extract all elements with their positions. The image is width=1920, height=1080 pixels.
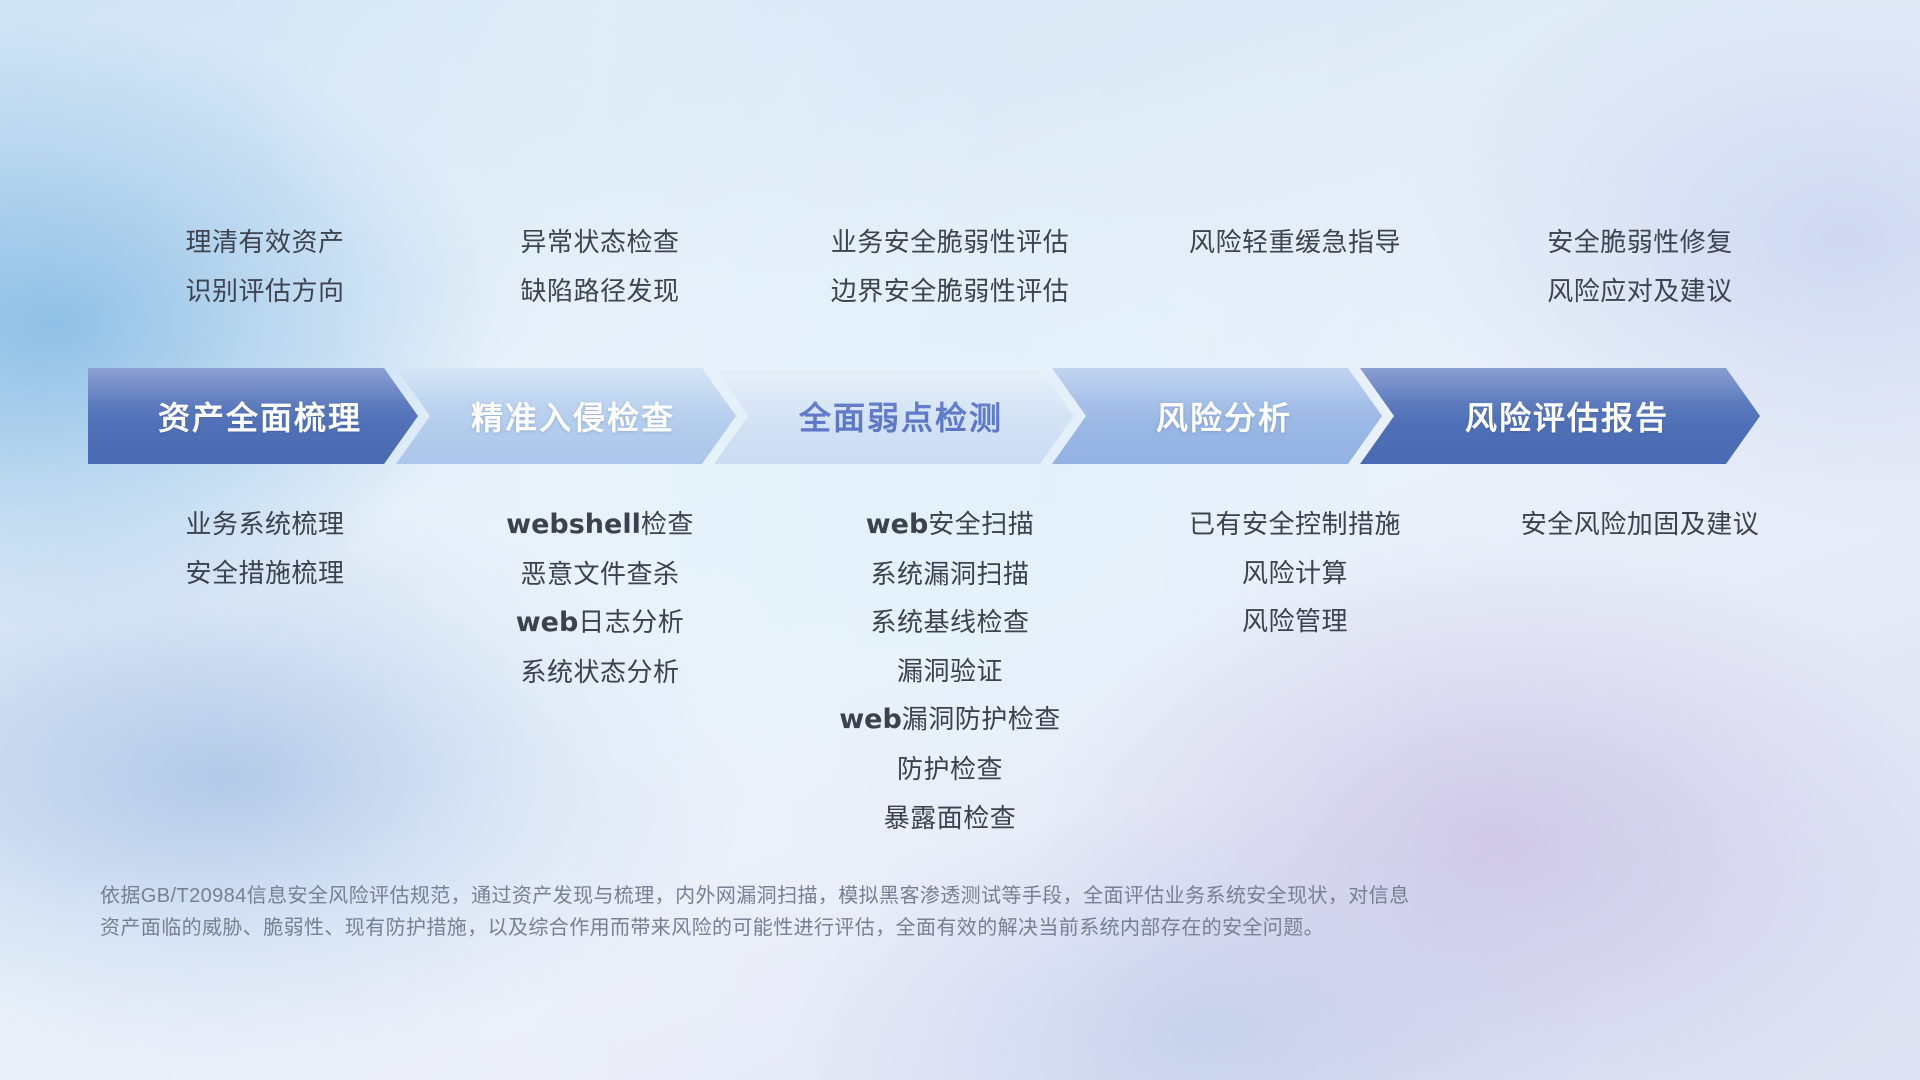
stage-arrow-weakness-detection[interactable]: 全面弱点检测 xyxy=(714,368,1074,464)
footer-description: 依据GB/T20984信息安全风险评估规范，通过资产发现与梳理，内外网漏洞扫描，… xyxy=(100,880,1660,945)
top-caption: 理清有效资产 xyxy=(185,226,344,259)
stage-arrow-label: 风险评估报告 xyxy=(1451,393,1669,439)
stage-arrow-asset-inventory[interactable]: 资产全面梳理 xyxy=(88,368,418,464)
stage-arrow-intrusion-check[interactable]: 精准入侵检查 xyxy=(396,368,736,464)
stage-item: webshell检查 xyxy=(506,508,694,542)
stage-item: 风险计算 xyxy=(1242,557,1348,590)
stage-item-row: 业务系统梳理安全措施梳理webshell检查恶意文件查杀web日志分析系统状态分… xyxy=(0,508,1920,834)
stage-item: 安全风险加固及建议 xyxy=(1521,508,1760,541)
top-caption: 安全脆弱性修复 xyxy=(1547,226,1733,259)
stage-arrow-label: 精准入侵检查 xyxy=(457,393,675,439)
stage-item: web安全扫描 xyxy=(866,508,1035,542)
top-caption: 缺陷路径发现 xyxy=(520,275,679,308)
top-caption: 风险轻重缓急指导 xyxy=(1189,226,1401,259)
stage-item: 安全措施梳理 xyxy=(185,557,344,590)
stage-item: 已有安全控制措施 xyxy=(1189,508,1401,541)
stage-item: 风险管理 xyxy=(1242,605,1348,638)
slide-canvas: 理清有效资产识别评估方向异常状态检查缺陷路径发现业务安全脆弱性评估边界安全脆弱性… xyxy=(0,0,1920,1080)
stage-item-latin: web xyxy=(839,704,902,735)
slide-content: 理清有效资产识别评估方向异常状态检查缺陷路径发现业务安全脆弱性评估边界安全脆弱性… xyxy=(0,0,1920,1080)
top-caption: 识别评估方向 xyxy=(185,275,344,308)
process-arrow-banner: 资产全面梳理精准入侵检查全面弱点检测风险分析风险评估报告 xyxy=(88,368,1848,464)
stage-item: web日志分析 xyxy=(516,606,685,640)
stage-item-latin: web xyxy=(516,607,579,638)
stage-item: 恶意文件查杀 xyxy=(520,558,679,591)
top-caption: 业务安全脆弱性评估 xyxy=(831,226,1070,259)
stage-item: 暴露面检查 xyxy=(884,802,1017,835)
stage-arrow-risk-analysis[interactable]: 风险分析 xyxy=(1052,368,1382,464)
stage-item-latin: web xyxy=(866,509,929,540)
top-caption: 边界安全脆弱性评估 xyxy=(831,275,1070,308)
stage-item: 防护检查 xyxy=(897,753,1003,786)
stage-arrow-label: 风险分析 xyxy=(1142,393,1292,439)
footer-line-1: 依据GB/T20984信息安全风险评估规范，通过资产发现与梳理，内外网漏洞扫描，… xyxy=(100,880,1660,912)
stage-item-latin: webshell xyxy=(506,509,641,540)
stage-item: 业务系统梳理 xyxy=(185,508,344,541)
stage-item: web漏洞防护检查 xyxy=(839,703,1061,737)
top-caption: 风险应对及建议 xyxy=(1547,275,1733,308)
top-caption: 异常状态检查 xyxy=(520,226,679,259)
footer-line-2: 资产面临的威胁、脆弱性、现有防护措施，以及综合作用而带来风险的可能性进行评估，全… xyxy=(100,912,1660,944)
stage-item: 漏洞验证 xyxy=(897,655,1003,688)
stage-arrow-label: 全面弱点检测 xyxy=(785,393,1003,439)
top-caption-row: 理清有效资产识别评估方向异常状态检查缺陷路径发现业务安全脆弱性评估边界安全脆弱性… xyxy=(0,226,1920,307)
stage-item: 系统漏洞扫描 xyxy=(870,558,1029,591)
stage-arrow-label: 资产全面梳理 xyxy=(144,393,362,439)
stage-arrow-risk-report[interactable]: 风险评估报告 xyxy=(1360,368,1760,464)
stage-item: 系统状态分析 xyxy=(520,656,679,689)
stage-item: 系统基线检查 xyxy=(870,606,1029,639)
